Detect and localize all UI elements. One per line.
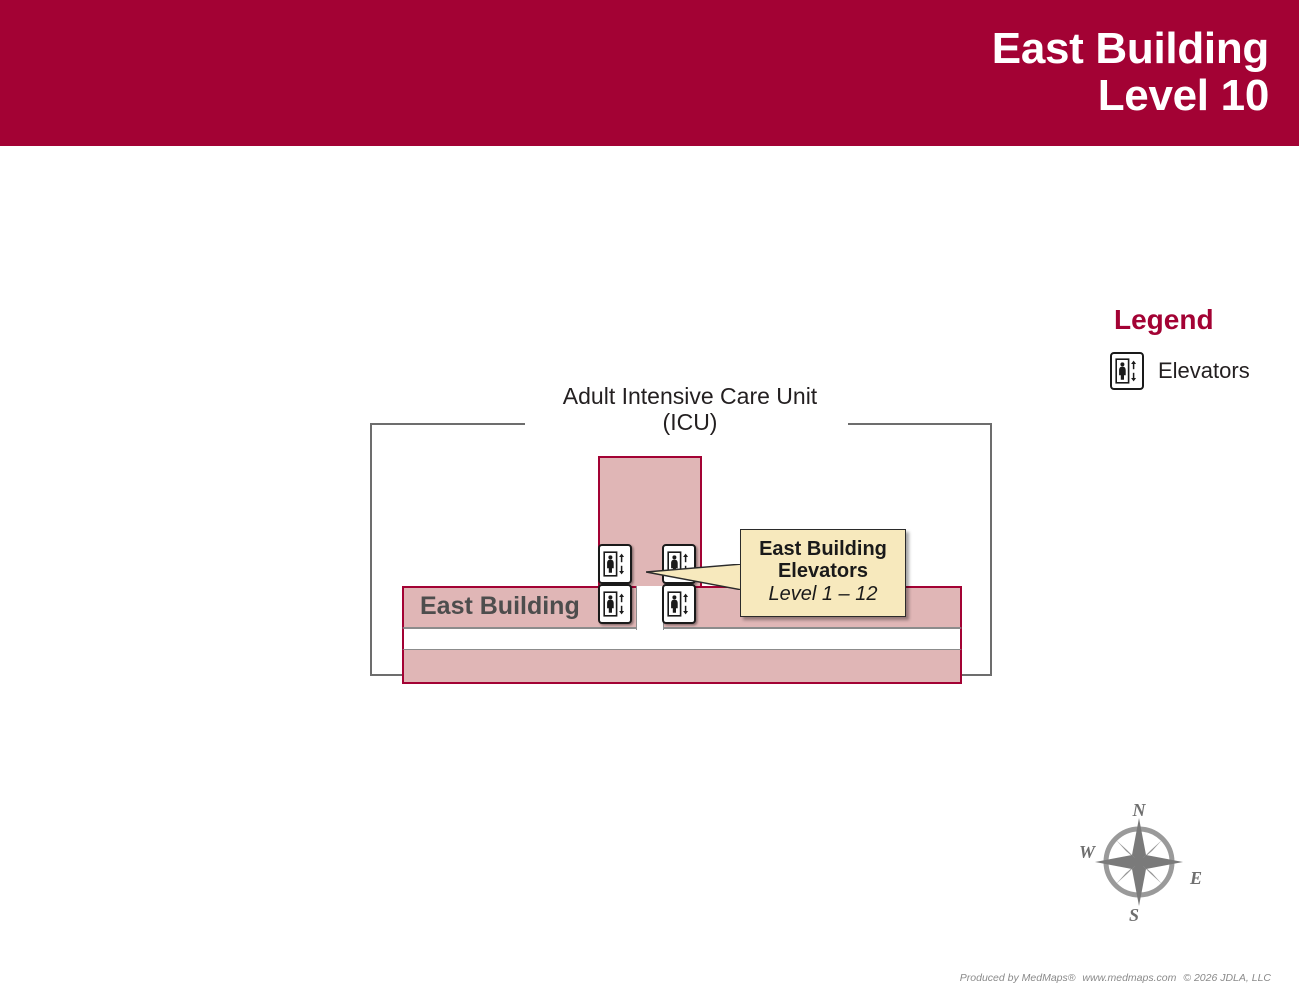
callout-title-line2: Elevators [751, 560, 895, 582]
legend-item-label: Elevators [1158, 358, 1250, 384]
elevator-callout: East Building Elevators Level 1 – 12 [740, 529, 906, 617]
building-name-label: East Building [420, 592, 580, 621]
callout-pointer [646, 564, 742, 590]
footer-website: www.medmaps.com [1082, 972, 1176, 984]
compass-label-north: N [1132, 802, 1147, 820]
page-header: East Building Level 10 [0, 0, 1299, 146]
compass-label-east: E [1189, 868, 1202, 888]
unit-label: Adult Intensive Care Unit (ICU) [340, 384, 1040, 436]
legend-item-elevators: Elevators [1110, 352, 1290, 390]
elevator-icon [1110, 352, 1144, 390]
elevator-sw[interactable] [598, 584, 632, 624]
legend-heading: Legend [1114, 304, 1290, 336]
elevator-lobby-gap [636, 586, 664, 630]
building-corridor [402, 628, 962, 650]
legend-panel: Legend Elevators [1110, 304, 1290, 390]
unit-label-line2: (ICU) [340, 410, 1040, 436]
compass-rose: N E S W [1078, 802, 1206, 924]
header-level-name: Level 10 [992, 73, 1269, 120]
unit-label-line1: Adult Intensive Care Unit [340, 384, 1040, 410]
elevator-nw[interactable] [598, 544, 632, 584]
compass-label-west: W [1079, 842, 1097, 862]
building-band-lower [402, 650, 962, 684]
footer-produced-by: Produced by MedMaps® [960, 972, 1076, 984]
header-building-name: East Building [992, 26, 1269, 73]
map-boundary-left [370, 423, 372, 675]
callout-title-line1: East Building [751, 538, 895, 560]
header-title-block: East Building Level 10 [992, 26, 1269, 119]
footer-credit: Produced by MedMaps® www.medmaps.com © 2… [956, 972, 1271, 984]
elevator-se[interactable] [662, 584, 696, 624]
footer-copyright: © 2026 JDLA, LLC [1183, 972, 1271, 984]
map-boundary-right [990, 423, 992, 675]
compass-label-south: S [1129, 905, 1139, 924]
callout-subtitle: Level 1 – 12 [751, 583, 895, 606]
floor-plan-map: Adult Intensive Care Unit (ICU) East Bui… [340, 370, 1040, 750]
